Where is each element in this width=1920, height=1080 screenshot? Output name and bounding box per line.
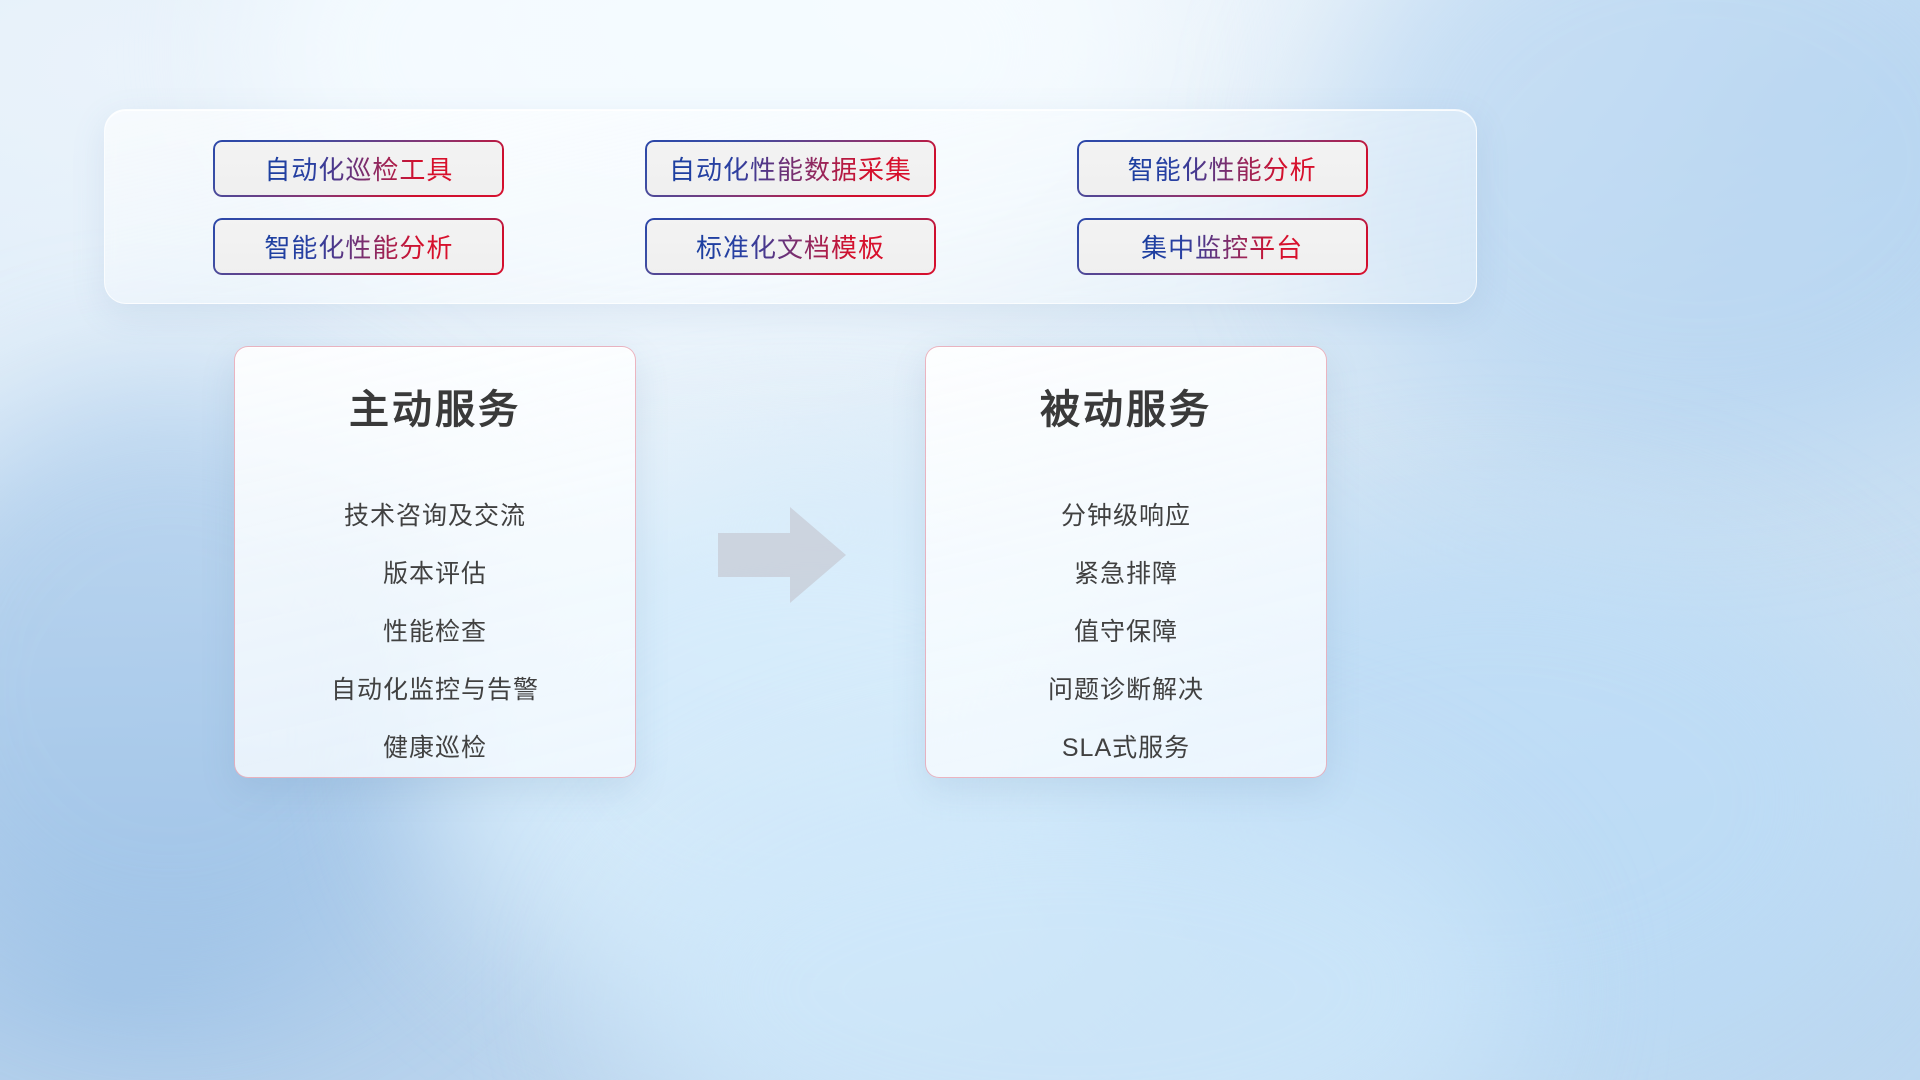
list-item: 紧急排障	[1074, 545, 1178, 603]
card-item-list: 技术咨询及交流 版本评估 性能检查 自动化监控与告警 健康巡检	[259, 487, 611, 777]
capability-pill-label: 自动化性能数据采集	[669, 150, 912, 187]
capability-pill-label: 标准化文档模板	[696, 228, 885, 265]
capability-pill-label: 自动化巡检工具	[264, 150, 453, 187]
capability-pill-label: 集中监控平台	[1141, 228, 1303, 265]
list-item: 版本评估	[383, 545, 487, 603]
capability-pill-2[interactable]: 自动化性能数据采集	[645, 140, 936, 197]
card-title: 主动服务	[349, 385, 521, 435]
list-item: 分钟级响应	[1061, 487, 1191, 545]
service-card-passive: 被动服务 分钟级响应 紧急排障 值守保障 问题诊断解决 SLA式服务	[925, 346, 1327, 778]
capability-pill-1[interactable]: 自动化巡检工具	[213, 140, 504, 197]
list-item: 自动化监控与告警	[331, 661, 539, 719]
list-item: 健康巡检	[383, 719, 487, 777]
card-title: 被动服务	[1040, 385, 1212, 435]
service-card-active: 主动服务 技术咨询及交流 版本评估 性能检查 自动化监控与告警 健康巡检	[234, 346, 636, 778]
card-item-list: 分钟级响应 紧急排障 值守保障 问题诊断解决 SLA式服务	[950, 487, 1302, 777]
capability-pill-5[interactable]: 标准化文档模板	[645, 218, 936, 275]
list-item: 性能检查	[383, 603, 487, 661]
capability-pill-label: 智能化性能分析	[1128, 150, 1317, 187]
capability-pill-label: 智能化性能分析	[264, 228, 453, 265]
capabilities-panel: 自动化巡检工具 自动化性能数据采集 智能化性能分析 智能化性能分析 标准化文档模…	[104, 109, 1477, 304]
right-arrow-icon	[714, 503, 850, 607]
capability-pill-6[interactable]: 集中监控平台	[1077, 218, 1368, 275]
capability-pill-3[interactable]: 智能化性能分析	[1077, 140, 1368, 197]
list-item: 值守保障	[1074, 603, 1178, 661]
capability-pill-4[interactable]: 智能化性能分析	[213, 218, 504, 275]
list-item: SLA式服务	[1062, 719, 1190, 777]
list-item: 问题诊断解决	[1048, 661, 1204, 719]
list-item: 技术咨询及交流	[344, 487, 526, 545]
